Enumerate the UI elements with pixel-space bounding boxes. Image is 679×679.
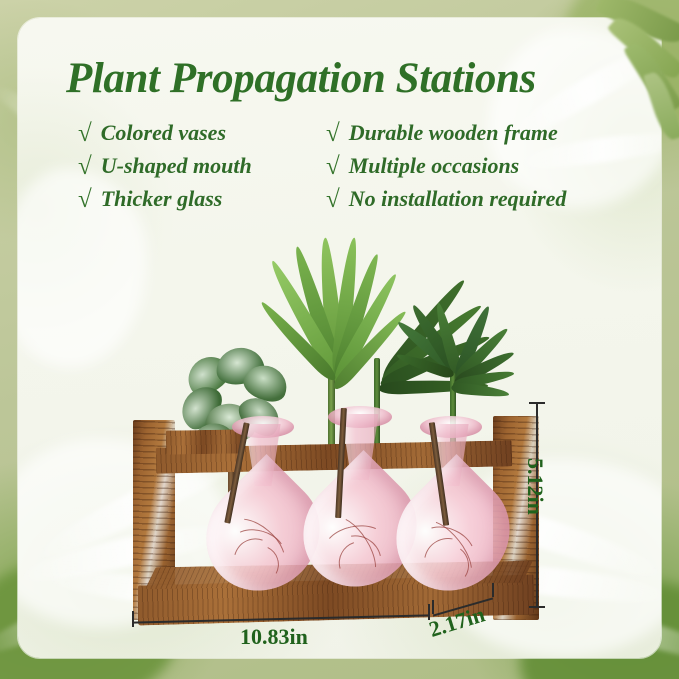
feature-item: √ Colored vases bbox=[78, 118, 326, 147]
content-card: Plant Propagation Stations √ Colored vas… bbox=[18, 18, 661, 658]
check-icon: √ bbox=[326, 154, 340, 179]
palm-leaf bbox=[451, 382, 510, 399]
product-photo bbox=[38, 208, 638, 638]
feature-column-right: √ Durable wooden frame √ Multiple occasi… bbox=[326, 118, 656, 213]
feature-label: U-shaped mouth bbox=[101, 151, 252, 180]
dimension-tick bbox=[432, 600, 434, 614]
feature-label: Colored vases bbox=[101, 118, 226, 147]
feature-list: √ Colored vases √ U-shaped mouth √ Thick… bbox=[78, 118, 658, 213]
feature-column-left: √ Colored vases √ U-shaped mouth √ Thick… bbox=[78, 118, 326, 213]
product-infographic: Plant Propagation Stations √ Colored vas… bbox=[0, 0, 679, 679]
feature-label: Durable wooden frame bbox=[349, 118, 558, 147]
check-icon: √ bbox=[326, 121, 340, 146]
dimension-label-height: 5.12in bbox=[522, 458, 548, 515]
dimension-tick bbox=[492, 583, 494, 597]
check-icon: √ bbox=[78, 121, 92, 146]
check-icon: √ bbox=[78, 154, 92, 179]
frame-top-block bbox=[166, 429, 244, 454]
dimension-tick bbox=[529, 402, 545, 404]
feature-label: Multiple occasions bbox=[349, 151, 520, 180]
dimension-tick bbox=[529, 606, 545, 608]
dimension-tick bbox=[132, 611, 134, 627]
page-title: Plant Propagation Stations bbox=[66, 56, 656, 102]
dimension-label-width: 10.83in bbox=[240, 624, 308, 650]
feature-item: √ U-shaped mouth bbox=[78, 151, 326, 180]
feature-item: √ Multiple occasions bbox=[326, 151, 656, 180]
feature-item: √ Durable wooden frame bbox=[326, 118, 656, 147]
